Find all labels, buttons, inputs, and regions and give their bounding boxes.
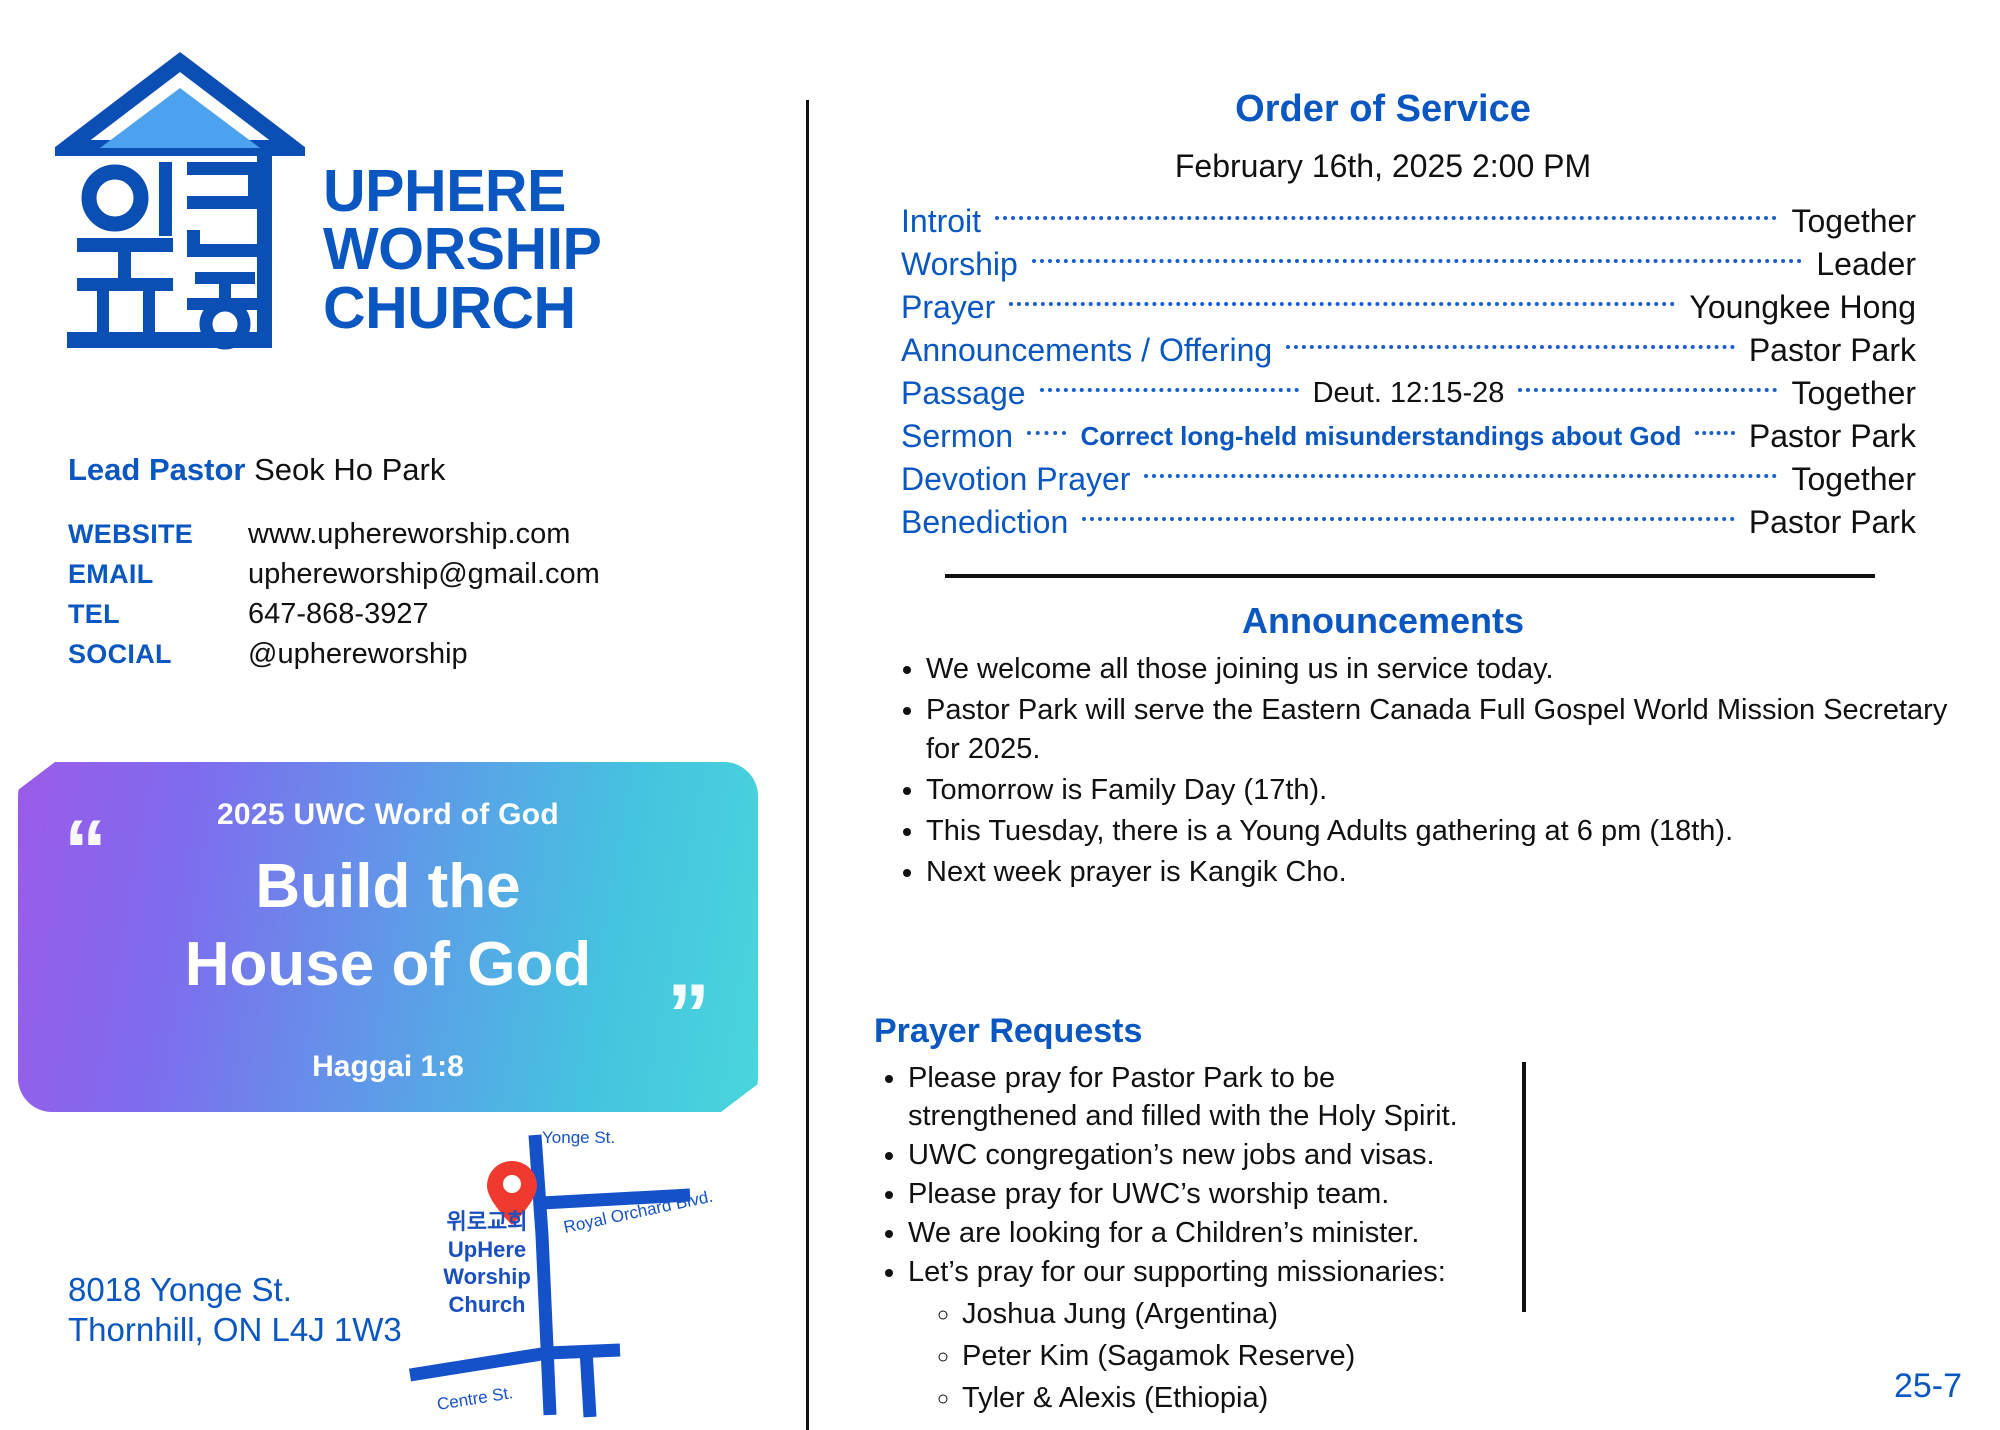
order-item-who: Pastor Park: [1749, 418, 1916, 455]
order-of-service-date: February 16th, 2025 2:00 PM: [806, 148, 1960, 185]
church-address: 8018 Yonge St. Thornhill, ON L4J 1W3: [68, 1270, 402, 1351]
left-column: UPHERE WORSHIP CHURCH Lead Pastor Seok H…: [0, 0, 800, 1428]
street-label-centre: Centre St.: [436, 1383, 515, 1414]
order-item-name: Passage: [901, 375, 1026, 412]
contact-key-social: SOCIAL: [68, 639, 248, 670]
order-row: Introit Together: [901, 200, 1916, 243]
leader-dots: [1695, 431, 1734, 435]
leader-dots: [1082, 517, 1735, 521]
list-item: Tyler & Alexis (Ethiopia): [962, 1380, 1488, 1418]
order-row: Benediction Pastor Park: [901, 501, 1916, 544]
word-of-god-reference: Haggai 1:8: [18, 1050, 758, 1084]
order-item-name: Introit: [901, 203, 981, 240]
address-line-2: Thornhill, ON L4J 1W3: [68, 1310, 402, 1350]
list-item: Let’s pray for our supporting missionari…: [908, 1254, 1488, 1292]
contact-value-website[interactable]: www.uphereworship.com: [248, 518, 570, 551]
list-item: Pastor Park will serve the Eastern Canad…: [926, 691, 1956, 768]
list-item: UWC congregation’s new jobs and visas.: [908, 1137, 1488, 1175]
list-item: Next week prayer is Kangik Cho.: [926, 853, 1956, 891]
order-item-name: Sermon: [901, 418, 1013, 455]
order-of-service-list: Introit Together Worship Leader Prayer Y…: [901, 200, 1916, 544]
church-wordmark: UPHERE WORSHIP CHURCH: [323, 162, 601, 337]
order-item-who: Pastor Park: [1749, 504, 1916, 541]
order-item-name: Prayer: [901, 289, 995, 326]
page-number: 25-7: [1894, 1367, 1962, 1406]
prayer-requests-title: Prayer Requests: [874, 1012, 1142, 1051]
announcements-title: Announcements: [806, 600, 1960, 642]
order-row: Prayer Youngkee Hong: [901, 286, 1916, 329]
order-item-who: Pastor Park: [1749, 332, 1916, 369]
street-label-yonge: Yonge St.: [542, 1128, 615, 1147]
contact-key-website: WEBSITE: [68, 519, 248, 550]
order-row: Worship Leader: [901, 243, 1916, 286]
quote-close-icon: ”: [667, 972, 710, 1058]
order-row: Sermon Correct long-held misunderstandin…: [901, 415, 1916, 458]
missionaries-list: Joshua Jung (Argentina) Peter Kim (Sagam…: [908, 1296, 1488, 1418]
list-item: We welcome all those joining us in servi…: [926, 650, 1956, 688]
list-item: Please pray for UWC’s worship team.: [908, 1176, 1488, 1214]
order-item-who: Youngkee Hong: [1689, 289, 1916, 326]
prayer-requests-list: Please pray for Pastor Park to be streng…: [866, 1060, 1488, 1419]
word-of-god-title-line2: House of God: [18, 926, 758, 1004]
leader-dots: [1286, 345, 1735, 349]
leader-dots: [1518, 388, 1777, 392]
contact-key-tel: TEL: [68, 599, 248, 630]
list-item: We are looking for a Children’s minister…: [908, 1215, 1488, 1253]
order-row: Passage Deut. 12:15-28 Together: [901, 372, 1916, 415]
map-label-line2: UpHere Worship: [402, 1236, 572, 1291]
church-logo: UPHERE WORSHIP CHURCH: [55, 40, 675, 360]
word-of-god-banner: “ 2025 UWC Word of God Build the House o…: [18, 762, 758, 1112]
lead-pastor-label: Lead Pastor: [68, 452, 245, 487]
wordmark-line-2: WORSHIP: [323, 220, 601, 278]
word-of-god-title-line1: Build the: [18, 848, 758, 926]
contact-value-tel[interactable]: 647-868-3927: [248, 598, 429, 631]
bulletin-page: UPHERE WORSHIP CHURCH Lead Pastor Seok H…: [0, 0, 2000, 1428]
word-of-god-title: Build the House of God: [18, 848, 758, 1003]
map-label-korean: 위로교회: [402, 1208, 572, 1236]
map-label-line3: Church: [402, 1291, 572, 1319]
order-item-name: Announcements / Offering: [901, 332, 1272, 369]
list-item: Joshua Jung (Argentina): [962, 1296, 1488, 1334]
wordmark-line-1: UPHERE: [323, 162, 601, 220]
leader-dots: [1144, 474, 1777, 478]
contact-info: WEBSITE www.uphereworship.com EMAIL uphe…: [68, 518, 600, 678]
word-of-god-subtitle: 2025 UWC Word of God: [18, 798, 758, 832]
wordmark-line-3: CHURCH: [323, 279, 601, 337]
lead-pastor-name: Seok Ho Park: [254, 452, 445, 487]
contact-value-email[interactable]: uphereworship@gmail.com: [248, 558, 600, 591]
order-of-service-title: Order of Service: [806, 88, 1960, 131]
address-line-1: 8018 Yonge St.: [68, 1270, 402, 1310]
order-item-name: Worship: [901, 246, 1018, 283]
list-item: Peter Kim (Sagamok Reserve): [962, 1338, 1488, 1376]
contact-row-social: SOCIAL @uphereworship: [68, 638, 600, 678]
order-item-name: Devotion Prayer: [901, 461, 1130, 498]
order-row: Announcements / Offering Pastor Park: [901, 329, 1916, 372]
list-item: Tomorrow is Family Day (17th).: [926, 771, 1956, 809]
order-item-detail: Deut. 12:15-28: [1313, 377, 1505, 410]
leader-dots: [1009, 302, 1675, 306]
order-item-who: Leader: [1816, 246, 1916, 283]
lead-pastor: Lead Pastor Seok Ho Park: [68, 452, 445, 488]
contact-value-social[interactable]: @uphereworship: [248, 638, 468, 671]
announcements-list: We welcome all those joining us in servi…: [884, 650, 1956, 895]
order-item-who: Together: [1791, 375, 1916, 412]
house-logo-icon: [55, 40, 305, 360]
list-item: Please pray for Pastor Park to be streng…: [908, 1060, 1488, 1136]
list-item: This Tuesday, there is a Young Adults ga…: [926, 812, 1956, 850]
leader-dots: [1040, 388, 1299, 392]
leader-dots: [1032, 259, 1803, 263]
map-church-label: 위로교회 UpHere Worship Church: [402, 1208, 572, 1318]
leader-dots: [995, 216, 1777, 220]
order-item-who: Together: [1791, 203, 1916, 240]
order-item-who: Together: [1791, 461, 1916, 498]
order-row: Devotion Prayer Together: [901, 458, 1916, 501]
contact-row-website: WEBSITE www.uphereworship.com: [68, 518, 600, 558]
leader-dots: [1027, 431, 1066, 435]
sermon-title: Correct long-held misunderstandings abou…: [1080, 421, 1681, 452]
contact-key-email: EMAIL: [68, 559, 248, 590]
order-item-name: Benediction: [901, 504, 1068, 541]
right-column: Order of Service February 16th, 2025 2:0…: [806, 0, 2000, 1428]
contact-row-email: EMAIL uphereworship@gmail.com: [68, 558, 600, 598]
contact-row-tel: TEL 647-868-3927: [68, 598, 600, 638]
